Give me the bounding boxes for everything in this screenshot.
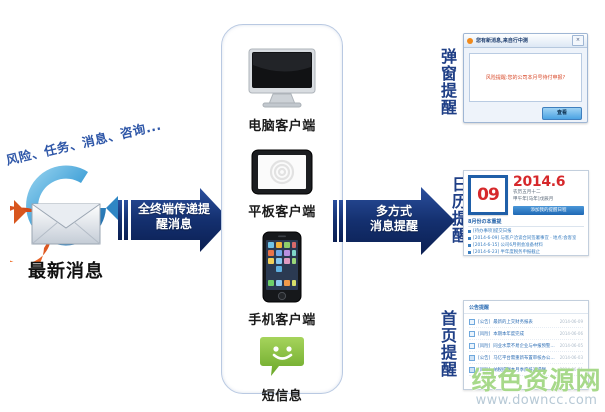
smartphone-icon — [222, 231, 342, 307]
dialog-footer: 查看 — [464, 107, 587, 120]
checkbox-icon[interactable] — [469, 319, 475, 325]
bullet-icon — [468, 237, 471, 240]
dialog-title-bar: 您有新消息,来自行中测 × — [464, 34, 587, 48]
calendar-item-text: [待办事项]提交日报 — [473, 228, 512, 235]
calendar-header: 09 2014.6 农历五月十二 甲午年[马年]戊辰月 添加我的提醒日程 — [464, 171, 588, 217]
calendar-item-text: [2014-6-09] 与客户洽谈合同签署事宜 · 地点:会客室 — [473, 235, 576, 242]
checkbox-icon[interactable] — [469, 343, 475, 349]
row-tag: [公告] — [478, 355, 490, 361]
row-date: 2014-06-05 — [560, 343, 583, 348]
calendar-list-item[interactable]: [2014-6-23] 半年度税务申报截止 — [468, 249, 584, 256]
section-label-homepage-reminder: 首页提醒 — [438, 310, 460, 378]
list-item[interactable]: [公告] 马亿平台需重新布置审核办公用品 2014-06-03 — [469, 352, 583, 364]
desktop-monitor-icon — [222, 47, 342, 113]
arrow-all-terminal-label: 全终端传递提 醒消息 — [118, 202, 230, 232]
calendar-lunar-line2: 甲午年[马年]戊辰月 — [513, 197, 584, 203]
client-label-sms: 短信息 — [222, 385, 342, 404]
calendar-item-text: [2014-6-15] 公司6月例会准备材料 — [473, 242, 543, 249]
calendar-item-text: [2014-6-23] 半年度税务申报截止 — [473, 249, 540, 256]
arrow1-line1: 全终端传递提 — [118, 202, 230, 217]
row-tag: [风险] — [478, 331, 490, 337]
bullet-icon — [468, 244, 471, 247]
row-tag: [公告] — [478, 319, 490, 325]
homepage-card-header: 公告提醒 — [464, 301, 588, 314]
calendar-lunar-line1: 农历五月十二 — [513, 190, 584, 196]
calendar-reminder-widget[interactable]: 09 2014.6 农历五月十二 甲午年[马年]戊辰月 添加我的提醒日程 8月份… — [463, 170, 589, 256]
calendar-list-item[interactable]: [2014-6-09] 与客户洽谈合同签署事宜 · 地点:会客室 — [468, 235, 584, 242]
watermark-url: www.downcc.com — [468, 393, 605, 408]
client-label-pc: 电脑客户端 — [222, 115, 342, 134]
row-tag: [风险] — [478, 343, 490, 349]
dialog-title-text: 您有新消息,来自行中测 — [476, 37, 569, 44]
client-item-mobile: 手机客户端 — [222, 231, 342, 328]
calendar-list-item[interactable]: [2014-6-15] 公司6月例会准备材料 — [468, 242, 584, 249]
client-terminals-panel: 电脑客户端 平板客户端 — [221, 24, 343, 394]
bullet-icon — [468, 230, 471, 233]
calendar-add-schedule-button[interactable]: 添加我的提醒日程 — [513, 206, 584, 215]
row-date: 2014-06-09 — [560, 319, 583, 324]
client-label-mobile: 手机客户端 — [222, 309, 342, 328]
row-text: 最新的上交财务报表 — [493, 319, 557, 325]
arrow1-line2: 醒消息 — [118, 217, 230, 232]
arrow-multi-method-reminder: 多方式 消息提醒 — [333, 184, 455, 258]
tablet-device-icon — [222, 149, 342, 199]
arrow-multi-method-label: 多方式 消息提醒 — [333, 204, 455, 234]
list-item[interactable]: [风险] 同业水票不易企业与中报预警下月 2014-06-05 — [469, 340, 583, 352]
checkbox-icon[interactable] — [469, 355, 475, 361]
arrow-all-terminal-delivery: 全终端传递提 醒消息 — [118, 186, 230, 254]
calendar-day-number: 09 — [477, 187, 499, 204]
section-label-popup-reminder: 弹窗提醒 — [438, 48, 460, 116]
row-text: 本期本年度完成 — [493, 331, 557, 337]
newest-message-caption: 最新消息 — [14, 257, 118, 283]
row-text: 马亿平台需重新布置审核办公用品 — [493, 355, 557, 361]
checkbox-icon[interactable] — [469, 331, 475, 337]
calendar-header-right: 2014.6 农历五月十二 甲午年[马年]戊辰月 添加我的提醒日程 — [513, 175, 584, 215]
bullet-icon — [468, 251, 471, 254]
diagram-canvas: 风险、任务、消息、咨询... — [0, 0, 605, 412]
arrow2-line2: 消息提醒 — [333, 219, 455, 234]
list-item[interactable]: [公告] 最新的上交财务报表 2014-06-09 — [469, 316, 583, 328]
calendar-list-item[interactable]: [待办事项]提交日报 — [468, 228, 584, 235]
dialog-view-button[interactable]: 查看 — [542, 107, 582, 120]
sms-bubble-icon — [222, 335, 342, 383]
client-item-sms: 短信息 — [222, 335, 342, 404]
row-date: 2014-06-03 — [560, 355, 583, 360]
client-label-tablet: 平板客户端 — [222, 201, 342, 220]
client-item-tablet: 平板客户端 — [222, 149, 342, 220]
site-watermark: 绿色资源网 www.downcc.com — [468, 368, 605, 408]
dialog-message-text: 风险提醒:您的公司本月号待付申报? — [486, 74, 565, 82]
arrow2-line1: 多方式 — [333, 204, 455, 219]
row-date: 2014-06-06 — [560, 331, 583, 336]
row-text: 同业水票不易企业与中报预警下月 — [493, 343, 557, 349]
dialog-body: 风险提醒:您的公司本月号待付申报? — [469, 53, 582, 102]
watermark-site-name: 绿色资源网 — [468, 368, 605, 393]
calendar-day-box: 09 — [468, 175, 508, 215]
calendar-year-month: 2014.6 — [513, 175, 584, 189]
popup-dialog-window[interactable]: 您有新消息,来自行中测 × 风险提醒:您的公司本月号待付申报? 查看 — [463, 33, 588, 123]
close-icon[interactable]: × — [572, 35, 584, 46]
alert-dot-icon — [467, 38, 473, 44]
list-item[interactable]: [风险] 本期本年度完成 2014-06-06 — [469, 328, 583, 340]
client-item-pc: 电脑客户端 — [222, 47, 342, 134]
calendar-list-header: 8月份の本重提 — [468, 218, 584, 227]
calendar-event-list: 8月份の本重提 [待办事项]提交日报 [2014-6-09] 与客户洽谈合同签署… — [464, 217, 588, 256]
new-message-envelope-icon — [10, 158, 122, 262]
